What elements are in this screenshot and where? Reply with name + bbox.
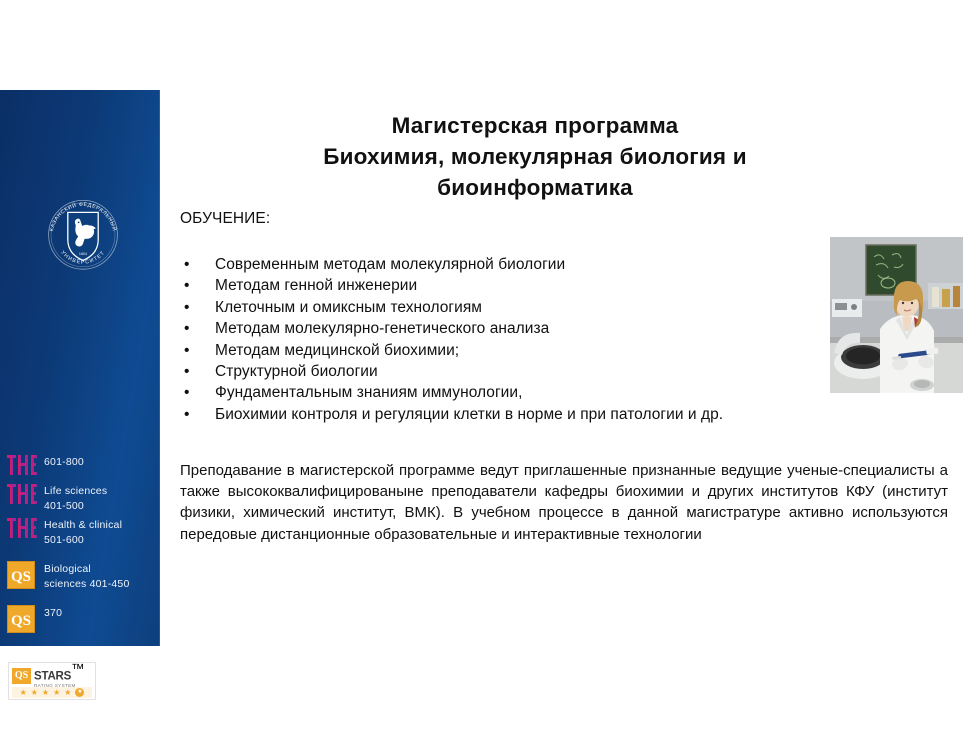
ranking-line: Life sciences: [44, 484, 160, 499]
ranking-text: 370: [44, 605, 160, 621]
ranking-line: 401-500: [44, 499, 160, 514]
the-logo-icon: [0, 483, 44, 505]
ranking-line: Health & clinical: [44, 518, 160, 533]
ranking-row: QS 370: [0, 605, 160, 633]
training-topics-list: •Современным методам молекулярной биолог…: [180, 254, 860, 425]
list-item-text: Биохимии контроля и регуляции клетки в н…: [215, 406, 723, 423]
bullet-icon: •: [184, 382, 189, 403]
the-logo-icon: [0, 454, 44, 476]
ranking-row: QS Biological sciences 401-450: [0, 561, 160, 592]
list-item-text: Фундаментальным знаниям иммунологии,: [215, 384, 522, 401]
list-item-text: Клеточным и омиксным технологиям: [215, 299, 482, 316]
bullet-icon: •: [184, 404, 189, 425]
list-item: •Современным методам молекулярной биолог…: [180, 254, 860, 275]
star-icon: ★: [20, 689, 27, 697]
ranking-line: sciences 401-450: [44, 577, 160, 592]
kfu-seal-icon: КАЗАНСКИЙ ФЕДЕРАЛЬНЫЙ УНИВЕРСИТЕТ 1804: [43, 193, 123, 275]
list-item: •Методам медицинской биохимии;: [180, 340, 860, 361]
list-item: •Методам молекулярно-генетического анали…: [180, 318, 860, 339]
bullet-icon: •: [184, 318, 189, 339]
ranking-text: Health & clinical 501-600: [44, 517, 160, 548]
slide-title: Магистерская программа Биохимия, молекул…: [185, 110, 885, 203]
bullet-icon: •: [184, 254, 189, 275]
ranking-line: 370: [44, 606, 160, 621]
list-item-text: Методам генной инженерии: [215, 277, 417, 294]
list-item: •Клеточным и омиксным технологиям: [180, 297, 860, 318]
ranking-line: 501-600: [44, 533, 160, 548]
slide-canvas: КАЗАНСКИЙ ФЕДЕРАЛЬНЫЙ УНИВЕРСИТЕТ 1804: [0, 0, 980, 735]
trademark-mark: ™: [71, 661, 84, 676]
list-item-text: Структурной биологии: [215, 363, 378, 380]
ranking-line: Biological: [44, 562, 160, 577]
star-icon: ★: [42, 689, 49, 697]
ranking-row: Health & clinical 501-600: [0, 517, 160, 548]
bullet-icon: •: [184, 361, 189, 382]
ranking-text: 601-800: [44, 454, 160, 470]
list-item: •Структурной биологии: [180, 361, 860, 382]
sidebar-panel: КАЗАНСКИЙ ФЕДЕРАЛЬНЫЙ УНИВЕРСИТЕТ 1804: [0, 90, 160, 646]
list-item-text: Современным методам молекулярной биологи…: [215, 256, 565, 273]
title-line-3: биоинформатика: [185, 172, 885, 203]
bullet-icon: •: [184, 297, 189, 318]
list-item: •Методам генной инженерии: [180, 275, 860, 296]
list-item: •Фундаментальным знаниям иммунологии,: [180, 382, 860, 403]
list-item-text: Методам молекулярно-генетического анализ…: [215, 320, 549, 337]
qs-stars-wordmark: STARS™ RATING SYSTEM: [34, 662, 84, 689]
qs-mark-icon: QS: [12, 668, 31, 684]
list-item: •Биохимии контроля и регуляции клетки в …: [180, 404, 860, 425]
bullet-icon: •: [184, 275, 189, 296]
qs-logo-icon: QS: [0, 561, 44, 589]
qs-stars-badge: QS STARS™ RATING SYSTEM ★ ★ ★ ★ ★ ★: [8, 662, 96, 700]
star-icon: ★: [53, 689, 60, 697]
program-description-paragraph: Преподавание в магистерской программе ве…: [180, 460, 948, 545]
star-icon: ★: [31, 689, 38, 697]
ranking-row: 601-800: [0, 454, 160, 480]
ranking-line: 601-800: [44, 455, 160, 470]
ranking-row: Life sciences 401-500: [0, 483, 160, 514]
laboratory-photo: [830, 237, 963, 393]
star-icon: ★: [64, 689, 71, 697]
the-logo-icon: [0, 517, 44, 539]
svg-text:QS: QS: [11, 569, 31, 585]
svg-text:1804: 1804: [79, 252, 87, 256]
title-line-1: Магистерская программа: [185, 110, 885, 141]
ranking-text: Life sciences 401-500: [44, 483, 160, 514]
title-line-2: Биохимия, молекулярная биология и: [185, 141, 885, 172]
rankings-list: 601-800: [0, 454, 160, 636]
svg-text:QS: QS: [11, 613, 31, 629]
qs-stars-title: STARS: [34, 670, 71, 682]
bullet-icon: •: [184, 340, 189, 361]
qs-logo-icon: QS: [0, 605, 44, 633]
list-item-text: Методам медицинской биохимии;: [215, 342, 459, 359]
section-label-training: ОБУЧЕНИЕ:: [180, 210, 270, 228]
qs-stars-header: QS STARS™ RATING SYSTEM: [12, 666, 92, 685]
ranking-text: Biological sciences 401-450: [44, 561, 160, 592]
star-badge-icon: ★: [75, 688, 84, 697]
